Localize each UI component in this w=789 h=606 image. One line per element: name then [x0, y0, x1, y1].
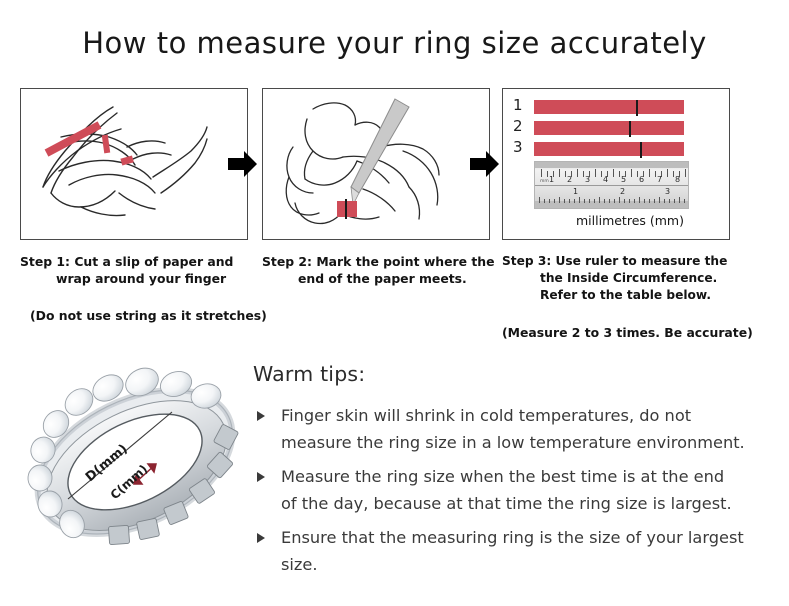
paper-strip-marked	[337, 199, 357, 219]
step-3-note: (Measure 2 to 3 times. Be accurate)	[502, 324, 734, 341]
step-3-line2-bold: Inside Circumference	[567, 271, 713, 285]
tip-1-line2: measure the ring size in a low temperatu…	[281, 429, 763, 456]
tip-3-line1: Ensure that the measuring ring is the si…	[281, 524, 763, 551]
ruler-top-num-7: 7	[657, 176, 662, 184]
ruler-band-bottom	[535, 201, 688, 208]
ruler-top-num-5: 5	[621, 176, 626, 184]
warm-tips-block: Warm tips: Finger skin will shrink in co…	[253, 362, 763, 585]
hand-marking-paper-with-pen-illustration	[263, 89, 489, 239]
step-2-label: Step 2:	[262, 254, 312, 269]
tip-2-line2: of the day, because at that time the rin…	[281, 490, 763, 517]
ruler-band-mid	[535, 185, 688, 186]
arrow-step1-to-step2	[228, 148, 258, 180]
hand-with-paper-strip-illustration	[21, 89, 247, 239]
strip-3-bar	[534, 142, 684, 156]
strip-3-tick	[640, 142, 642, 158]
ruler-band-top	[535, 162, 688, 168]
triangle-bullet-icon	[257, 533, 265, 543]
arrow-step2-to-step3	[470, 148, 500, 180]
ruler-top-num-3: 3	[585, 176, 590, 184]
step-3-figure: 1 2 3	[502, 88, 730, 240]
step-3-label: Step 3:	[502, 254, 551, 268]
tip-3-line2: size.	[281, 551, 763, 578]
step-2-figure	[262, 88, 490, 240]
ruler-bottom-num-1: 1	[573, 188, 578, 196]
strip-3-number: 3	[513, 139, 527, 156]
step-2-line1: Mark the point where the	[316, 254, 494, 269]
step-1-figure	[20, 88, 248, 240]
step-2-caption: Step 2: Mark the point where the end of …	[262, 253, 494, 287]
ring-photo-illustration: D(mm) C(mm)	[16, 354, 254, 569]
step-1-line2: wrap around your finger	[20, 270, 252, 287]
strip-2-bar	[534, 121, 684, 135]
ruler-top-num-8: 8	[675, 176, 680, 184]
tip-item-2: Measure the ring size when the best time…	[253, 463, 763, 517]
triangle-bullet-icon	[257, 472, 265, 482]
step-1-label: Step 1:	[20, 254, 70, 269]
step-3-line1: Use ruler to measure the	[555, 254, 727, 268]
triangle-bullet-icon	[257, 411, 265, 421]
ruler-bottom-num-2: 2	[620, 188, 625, 196]
strip-1-number: 1	[513, 97, 527, 114]
pen	[351, 99, 409, 205]
warm-tips-heading: Warm tips:	[253, 362, 763, 386]
strip-1-bar	[534, 100, 684, 114]
tip-item-3: Ensure that the measuring ring is the si…	[253, 524, 763, 578]
step-column-3: 1 2 3	[502, 88, 734, 341]
ruler-bottom-num-3: 3	[665, 188, 670, 196]
bottom-section: D(mm) C(mm) Warm tips: Finger skin will …	[0, 348, 789, 606]
steps-row: Step 1: Cut a slip of paper and wrap aro…	[0, 88, 789, 338]
ruler-graphic: mm 1 2 3 4 5 6 7 8 1 2 3	[534, 161, 689, 209]
step-column-1: Step 1: Cut a slip of paper and wrap aro…	[20, 88, 252, 324]
paper-strip-diagonal	[45, 121, 102, 156]
step-3-caption: Step 3: Use ruler to measure the the Ins…	[502, 253, 734, 304]
step-3-line3: Refer to the table below.	[502, 287, 734, 304]
ring-diagram: D(mm) C(mm)	[16, 354, 254, 569]
tip-item-1: Finger skin will shrink in cold temperat…	[253, 402, 763, 456]
page-title: How to measure your ring size accurately	[0, 26, 789, 60]
step-1-line1: Cut a slip of paper and	[74, 254, 233, 269]
ruler-top-num-1: 1	[549, 176, 554, 184]
tip-1-line1: Finger skin will shrink in cold temperat…	[281, 402, 763, 429]
step-1-note: (Do not use string as it stretches)	[20, 307, 252, 324]
strip-1-tick	[636, 100, 638, 116]
strip-2-tick	[629, 121, 631, 137]
ruler-unit-label-mm: mm	[540, 178, 549, 186]
ruler-top-num-4: 4	[603, 176, 608, 184]
ruler-top-num-2: 2	[567, 176, 572, 184]
tip-2-line1: Measure the ring size when the best time…	[281, 463, 763, 490]
ruler-top-num-6: 6	[639, 176, 644, 184]
step-2-line2: end of the paper meets.	[262, 270, 494, 287]
step-1-caption: Step 1: Cut a slip of paper and wrap aro…	[20, 253, 252, 287]
strip-2-number: 2	[513, 118, 527, 135]
step-column-2: Step 2: Mark the point where the end of …	[262, 88, 494, 287]
ruler-caption: millimetres (mm)	[503, 213, 729, 228]
